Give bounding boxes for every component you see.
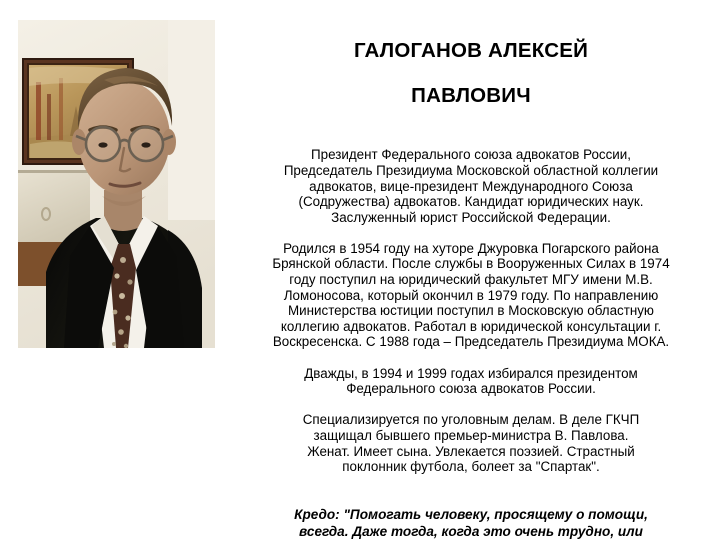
- bio-paragraph-1: Президент Федерального союза адвокатов Р…: [228, 147, 714, 225]
- title-line-1: ГАЛОГАНОВ АЛЕКСЕЙ: [228, 38, 714, 64]
- title-line-2: ПАВЛОВИЧ: [228, 83, 714, 109]
- bio-paragraph-2: Родился в 1954 году на хуторе Джуровка П…: [228, 241, 714, 350]
- page-title: ГАЛОГАНОВ АЛЕКСЕЙ ПАВЛОВИЧ: [228, 38, 714, 109]
- credo-text: Кредо: "Помогать человеку, просящему о п…: [228, 507, 714, 540]
- bio-paragraph-3: Дважды, в 1994 и 1999 годах избирался пр…: [228, 366, 714, 397]
- text-column: ГАЛОГАНОВ АЛЕКСЕЙ ПАВЛОВИЧ Президент Фед…: [228, 24, 714, 540]
- portrait-photo-graphic: [18, 20, 215, 348]
- bio-paragraph-4: Специализируется по уголовным делам. В д…: [228, 412, 714, 474]
- portrait-photo: [18, 20, 215, 348]
- biography-text: Президент Федерального союза адвокатов Р…: [228, 132, 714, 491]
- slide-root: ГАЛОГАНОВ АЛЕКСЕЙ ПАВЛОВИЧ Президент Фед…: [0, 0, 720, 540]
